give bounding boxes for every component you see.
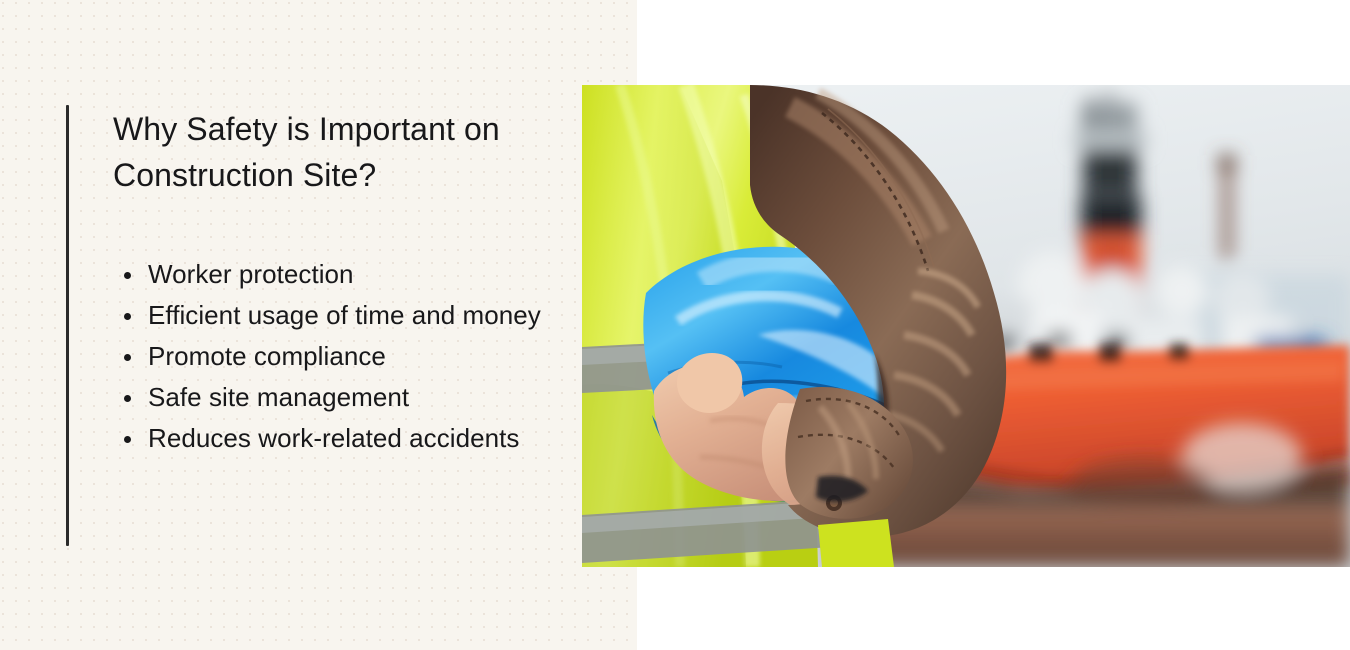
text-column: Why Safety is Important on Construction … (113, 106, 583, 459)
list-item: Promote compliance (113, 336, 550, 377)
page-title: Why Safety is Important on Construction … (113, 106, 533, 198)
list-item: Reduces work-related accidents (113, 418, 550, 459)
benefits-list: Worker protection Efficient usage of tim… (113, 254, 583, 459)
list-item: Safe site management (113, 377, 550, 418)
slide-root: Why Safety is Important on Construction … (0, 0, 1350, 650)
vertical-accent-rule (66, 105, 69, 546)
list-item: Worker protection (113, 254, 550, 295)
list-item: Efficient usage of time and money (113, 295, 550, 336)
construction-worker-photo (582, 85, 1350, 567)
photo-illustration (582, 85, 1350, 567)
